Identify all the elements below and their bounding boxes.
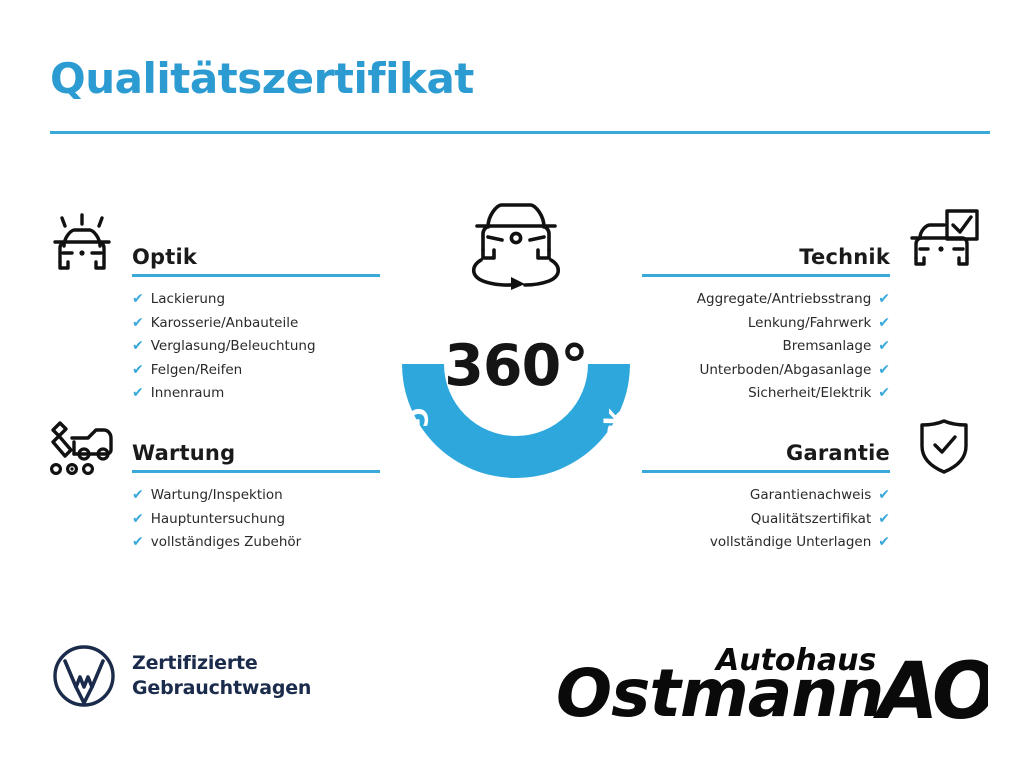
section-technik-divider [642, 274, 890, 277]
list-item: Qualitätszertifikat ✔ [642, 508, 890, 532]
check-icon: ✔ [878, 508, 890, 532]
list-item-label: vollständige Unterlagen [710, 531, 871, 555]
list-item: Unterboden/Abgasanlage ✔ [642, 359, 890, 383]
list-item-label: Karosserie/Anbauteile [151, 312, 299, 336]
section-optik-header: Optik [132, 233, 380, 277]
shield-check-icon [906, 414, 982, 478]
wrench-car-icon [44, 416, 120, 480]
list-item-label: Aggregate/Antriebsstrang [697, 288, 872, 312]
check-icon: ✔ [878, 382, 890, 406]
section-garantie-items: Garantienachweis ✔ Qualitätszertifikat ✔… [642, 484, 890, 555]
check-icon: ✔ [878, 288, 890, 312]
section-wartung-divider [132, 470, 380, 473]
header-divider [50, 131, 990, 134]
section-garantie-divider [642, 470, 890, 473]
list-item-label: Hauptuntersuchung [151, 508, 285, 532]
list-item: ✔ Karosserie/Anbauteile [132, 312, 380, 336]
list-item: ✔ vollständiges Zubehör [132, 531, 380, 555]
check-icon: ✔ [132, 359, 144, 383]
dealer-small-text: Autohaus [714, 643, 876, 678]
list-item: ✔ Verglasung/Beleuchtung [132, 335, 380, 359]
vw-logo-line1: Zertifizierte [132, 651, 311, 676]
section-technik: Technik Aggregate/Antriebsstrang ✔ Lenku… [642, 233, 890, 406]
vw-logo-line2: Gebrauchtwagen [132, 676, 311, 701]
section-optik-divider [132, 274, 380, 277]
section-wartung-title: Wartung [132, 441, 235, 465]
list-item-label: Unterboden/Abgasanlage [699, 359, 871, 383]
badge-center-label: 360° [372, 333, 660, 399]
section-wartung-items: ✔ Wartung/Inspektion ✔ Hauptuntersuchung… [132, 484, 380, 555]
list-item-label: Felgen/Reifen [151, 359, 243, 383]
check-icon: ✔ [878, 335, 890, 359]
section-garantie-title: Garantie [786, 441, 890, 465]
vw-logo-text: Zertifizierte Gebrauchtwagen [132, 651, 311, 701]
vw-logo-icon [52, 644, 116, 708]
list-item: ✔ Innenraum [132, 382, 380, 406]
list-item: Lenkung/Fahrwerk ✔ [642, 312, 890, 336]
section-optik-title: Optik [132, 245, 197, 269]
section-garantie-header: Garantie [642, 429, 890, 473]
list-item-label: Garantienachweis [750, 484, 871, 508]
list-item: ✔ Felgen/Reifen [132, 359, 380, 383]
list-item: Bremsanlage ✔ [642, 335, 890, 359]
check-icon: ✔ [878, 312, 890, 336]
list-item: ✔ Lackierung [132, 288, 380, 312]
list-item-label: Lackierung [151, 288, 225, 312]
section-garantie: Garantie Garantienachweis ✔ Qualitätszer… [642, 429, 890, 555]
list-item-label: Bremsanlage [783, 335, 872, 359]
list-item-label: Lenkung/Fahrwerk [748, 312, 871, 336]
list-item-label: Innenraum [151, 382, 225, 406]
list-item: ✔ Hauptuntersuchung [132, 508, 380, 532]
check-icon: ✔ [132, 484, 144, 508]
check-icon: ✔ [878, 359, 890, 383]
car-checkbox-icon [906, 208, 982, 272]
section-technik-header: Technik [642, 233, 890, 277]
certificate-page: Qualitätszertifikat Optik [0, 0, 1024, 768]
list-item-label: Verglasung/Beleuchtung [151, 335, 316, 359]
section-technik-title: Technik [799, 245, 890, 269]
check-icon: ✔ [878, 531, 890, 555]
list-item: ✔ Wartung/Inspektion [132, 484, 380, 508]
list-item-label: Wartung/Inspektion [151, 484, 283, 508]
dealer-monogram: AO [872, 647, 988, 732]
section-wartung: Wartung ✔ Wartung/Inspektion ✔ Hauptunte… [132, 429, 380, 555]
list-item-label: vollständiges Zubehör [151, 531, 301, 555]
list-item-label: Sicherheit/Elektrik [748, 382, 871, 406]
page-title: Qualitätszertifikat [50, 54, 474, 103]
check-icon: ✔ [132, 312, 144, 336]
section-optik-items: ✔ Lackierung ✔ Karosserie/Anbauteile ✔ V… [132, 288, 380, 406]
list-item: Sicherheit/Elektrik ✔ [642, 382, 890, 406]
list-item-label: Qualitätszertifikat [751, 508, 872, 532]
section-optik: Optik ✔ Lackierung ✔ Karosserie/Anbautei… [132, 233, 380, 406]
car-shine-icon [44, 212, 120, 276]
vw-certified-logo: Zertifizierte Gebrauchtwagen [52, 644, 311, 708]
check-icon: ✔ [132, 508, 144, 532]
dealer-logo: Ostmann Autohaus AO [548, 636, 988, 732]
list-item: Garantienachweis ✔ [642, 484, 890, 508]
section-wartung-header: Wartung [132, 429, 380, 473]
badge-360-check: Gebrauchtwagen-Check [372, 196, 660, 484]
list-item: Aggregate/Antriebsstrang ✔ [642, 288, 890, 312]
check-icon: ✔ [132, 335, 144, 359]
check-icon: ✔ [132, 531, 144, 555]
check-icon: ✔ [132, 288, 144, 312]
check-icon: ✔ [132, 382, 144, 406]
check-icon: ✔ [878, 484, 890, 508]
list-item: vollständige Unterlagen ✔ [642, 531, 890, 555]
car-rotation-icon [455, 190, 577, 290]
section-technik-items: Aggregate/Antriebsstrang ✔ Lenkung/Fahrw… [642, 288, 890, 406]
